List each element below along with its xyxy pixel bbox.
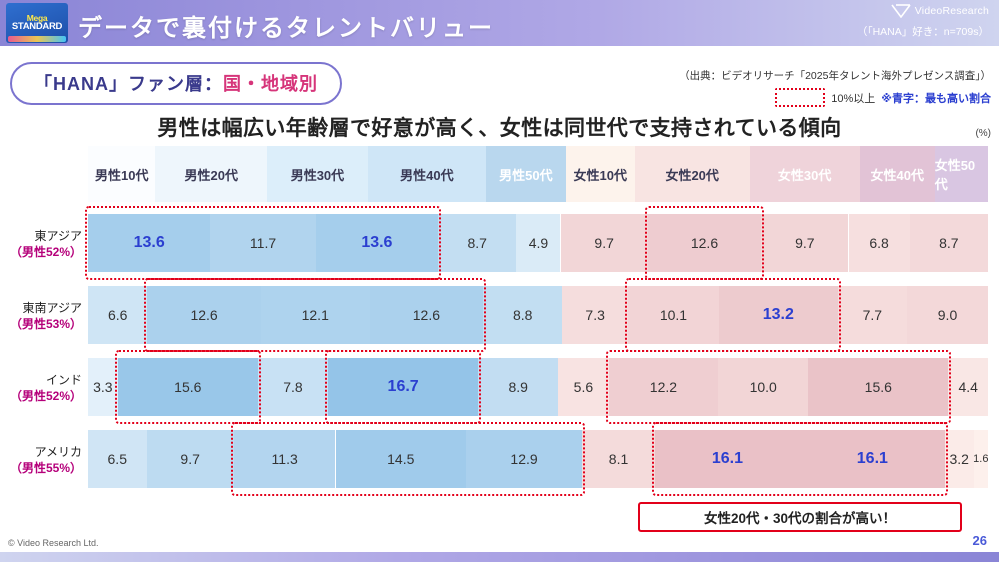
videoresearch-mark-icon	[891, 4, 911, 18]
page-title: データで裏付けるタレントバリュー	[78, 8, 494, 43]
section-title: 「HANA」ファン層：国・地域別	[10, 62, 342, 105]
heatmap-cell: 12.1	[261, 286, 370, 344]
logo-line-2: STANDARD	[12, 22, 62, 32]
row-label-sub: （男性53%）	[10, 317, 82, 331]
heatmap-cell: 12.9	[466, 430, 582, 488]
heatmap-cell: 5.6	[558, 358, 608, 416]
column-header: 女性10代	[566, 146, 635, 202]
column-header: 男性40代	[368, 146, 486, 202]
row-label: 東アジア（男性52%）	[8, 228, 86, 260]
heatmap-cell: 9.7	[561, 214, 648, 272]
heatmap-cell: 12.6	[147, 286, 260, 344]
chart-heading: 男性は幅広い年齢層で好意が高く、女性は同世代で支持されている傾向	[0, 112, 999, 142]
legend-dotted-label: 10%以上	[831, 90, 875, 106]
heatmap-cell: 15.6	[808, 358, 948, 416]
heatmap-cell: 11.3	[234, 430, 336, 488]
heatmap-cell: 7.8	[258, 358, 328, 416]
row-label-sub: （男性55%）	[10, 461, 82, 475]
callout-box: 女性20代・30代の割合が高い！	[638, 502, 962, 532]
column-header: 女性30代	[750, 146, 860, 202]
heatmap-cell: 11.7	[210, 214, 315, 272]
brand-logo: VideoResearch	[891, 4, 989, 18]
row-label-name: アメリカ	[35, 445, 82, 459]
heatmap-cell: 13.6	[88, 214, 210, 272]
heatmap-cell: 12.6	[370, 286, 483, 344]
section-title-highlight: 国・地域別	[223, 74, 318, 94]
heatmap-cell: 16.7	[328, 358, 478, 416]
column-header: 女性40代	[860, 146, 935, 202]
heatmap-cell: 13.6	[316, 214, 438, 272]
section-title-prefix: 「HANA」ファン層：	[34, 74, 223, 94]
heatmap-cell: 10.1	[628, 286, 719, 344]
logo-flag-icon	[8, 36, 66, 42]
heatmap-cell: 9.0	[907, 286, 988, 344]
heatmap-cell: 6.8	[849, 214, 910, 272]
page-number: 26	[973, 533, 987, 548]
heatmap-cell: 1.6	[974, 430, 988, 488]
legend-blue-label: ※青字：最も高い割合	[881, 90, 991, 106]
heatmap-cell: 6.6	[88, 286, 147, 344]
column-header: 女性50代	[935, 146, 988, 202]
heatmap-cell: 14.5	[336, 430, 467, 488]
page-header: Mega STANDARD データで裏付けるタレントバリュー VideoRese…	[0, 0, 999, 46]
heatmap-cell: 3.2	[945, 430, 974, 488]
heatmap-cell: 4.9	[516, 214, 560, 272]
heatmap-cell: 13.2	[719, 286, 838, 344]
heatmap-cell: 4.4	[948, 358, 988, 416]
heatmap-cell: 12.2	[609, 358, 719, 416]
heatmap-cell: 7.3	[562, 286, 628, 344]
heatmap-cell: 16.1	[655, 430, 800, 488]
footer-bar	[0, 552, 999, 562]
mega-standard-logo: Mega STANDARD	[6, 3, 68, 43]
heatmap-cell: 7.7	[838, 286, 907, 344]
row-label: インド（男性52%）	[8, 372, 86, 404]
heatmap-cell: 3.3	[88, 358, 118, 416]
brand-name: VideoResearch	[915, 5, 989, 17]
row-label: アメリカ（男性55%）	[8, 444, 86, 476]
source-note: （出典：ビデオリサーチ「2025年タレント海外プレゼンス調査」）	[679, 68, 991, 83]
heatmap-cell: 9.7	[147, 430, 234, 488]
row-label: 東南アジア（男性53%）	[8, 300, 86, 332]
heatmap-cell: 6.5	[88, 430, 147, 488]
row-label-name: インド	[46, 373, 82, 387]
column-header: 女性20代	[635, 146, 750, 202]
legend: 10%以上 ※青字：最も高い割合	[775, 88, 991, 107]
unit-label: (%)	[975, 128, 991, 139]
heatmap-cell: 8.7	[438, 214, 516, 272]
column-header: 男性30代	[267, 146, 368, 202]
copyright: © Video Research Ltd.	[8, 538, 99, 548]
heatmap-cell: 9.7	[761, 214, 848, 272]
heatmap-cell: 16.1	[800, 430, 945, 488]
heatmap-cell: 8.1	[582, 430, 655, 488]
column-header: 男性20代	[155, 146, 267, 202]
row-label-name: 東南アジア	[22, 301, 82, 315]
heatmap-cell: 15.6	[118, 358, 258, 416]
heatmap-cell: 10.0	[718, 358, 808, 416]
row-label-name: 東アジア	[34, 229, 82, 243]
row-label-sub: （男性52%）	[10, 389, 82, 403]
heatmap-cell: 8.9	[478, 358, 558, 416]
row-label-sub: （男性52%）	[10, 245, 82, 259]
heatmap-cell: 12.6	[648, 214, 761, 272]
heatmap-cell: 8.7	[910, 214, 988, 272]
heatmap-cell: 8.8	[483, 286, 562, 344]
legend-dotted-swatch	[775, 88, 825, 107]
column-header: 男性10代	[88, 146, 155, 202]
brand-subtext: （「HANA」好き：n=709s）	[857, 24, 989, 39]
column-header: 男性50代	[486, 146, 566, 202]
